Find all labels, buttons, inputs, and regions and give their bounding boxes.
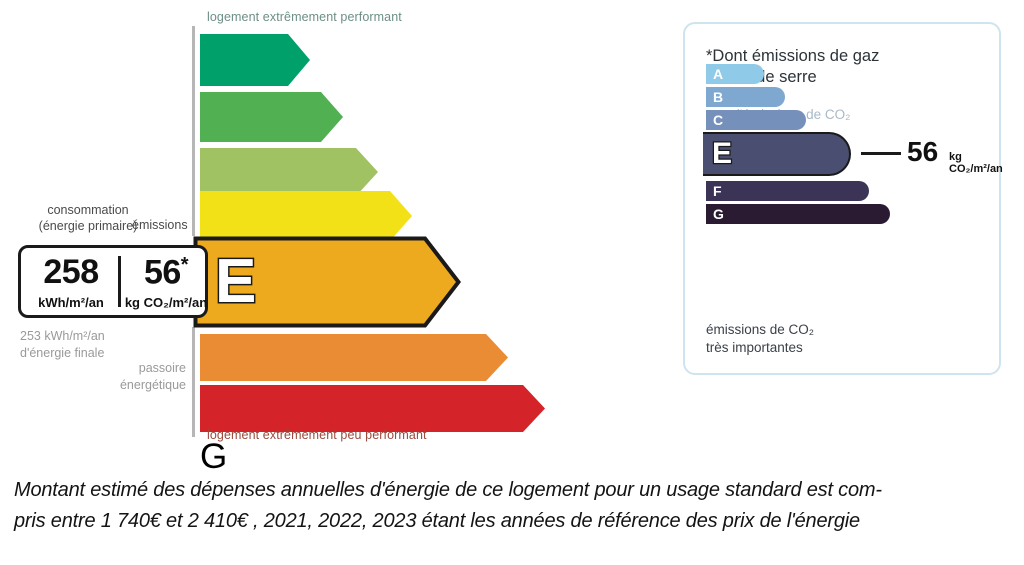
- co2-rating-bar-F: F: [706, 181, 869, 201]
- emissions-value: 56: [144, 253, 181, 291]
- energy-rating-bar-E-highlighted: E: [193, 236, 461, 328]
- energy-rating-letter-G: G: [200, 437, 545, 477]
- consumption-value: 258: [24, 254, 118, 291]
- co2-scale-caption-bottom: émissions de CO₂ très importantes: [706, 321, 814, 356]
- co2-rating-letter-C: C: [713, 113, 723, 127]
- scale-caption-bottom: logement extrêmement peu performant: [207, 428, 427, 442]
- co2-rating-letter-F: F: [713, 184, 722, 198]
- emissions-asterisk: *: [181, 254, 188, 276]
- scale-divider-line-bottom: [192, 327, 195, 437]
- consumption-cell: 258 kWh/m²/an: [24, 248, 118, 315]
- energy-arrow-D-shape: [200, 191, 412, 241]
- energy-rating-bar-B: B: [200, 92, 343, 142]
- energy-rating-bar-F: F: [200, 334, 508, 381]
- passoire-energetique-note: passoire énergétique: [108, 360, 186, 394]
- consumption-unit-text: kWh/m: [38, 295, 81, 310]
- energy-arrow-A-shape: [200, 34, 310, 86]
- energy-rating-bar-G: G: [200, 385, 545, 432]
- co2-rating-letter-A: A: [713, 67, 723, 81]
- emissions-cell: 56* kg CO₂/m²/an: [124, 248, 208, 315]
- scale-caption-top: logement extrêmement performant: [207, 10, 402, 24]
- final-energy-note: 253 kWh/m²/an d'énergie finale: [20, 328, 105, 362]
- emissions-label: émissions: [132, 218, 188, 232]
- emissions-unit: kg CO₂/m²/an: [124, 295, 208, 310]
- co2-rating-bar-C: C: [706, 110, 806, 130]
- energy-arrow-C-shape: [200, 148, 378, 196]
- co2-rating-letter-E: E: [712, 139, 732, 169]
- co2-rating-bar-E-highlighted: E: [703, 132, 851, 176]
- value-box-divider: [118, 256, 121, 307]
- caption-line1: Montant estimé des dépenses annuelles d'…: [14, 475, 1014, 506]
- co2-rating-bar-B: B: [706, 87, 785, 107]
- consumption-unit-suffix: /an: [85, 295, 104, 310]
- emissions-value-wrap: 56*: [124, 254, 208, 292]
- energy-rating-letter-E: E: [215, 251, 256, 313]
- energy-arrow-B-shape: [200, 92, 343, 142]
- scale-divider-line-top: [192, 26, 195, 236]
- energy-arrow-G-shape: [200, 385, 545, 432]
- passoire-line1: passoire: [108, 360, 186, 377]
- co2-caption-bottom-line1: émissions de CO₂: [706, 321, 814, 339]
- energy-arrow-F-shape: [200, 334, 508, 381]
- energy-value-box: 258 kWh/m²/an 56* kg CO₂/m²/an: [18, 245, 208, 318]
- co2-rating-letter-B: B: [713, 90, 723, 104]
- co2-rating-letter-G: G: [713, 207, 724, 221]
- final-energy-line2: d'énergie finale: [20, 345, 105, 362]
- energy-rating-bar-A: A: [200, 34, 310, 86]
- co2-rating-bar-A: A: [706, 64, 764, 84]
- consumption-label-line1: consommation: [23, 202, 153, 218]
- energy-performance-scale: logement extrêmement performant ABCDFG E…: [0, 0, 670, 455]
- co2-caption-bottom-line2: très importantes: [706, 339, 814, 357]
- co2-value-unit: kg CO₂/m²/an: [949, 151, 1003, 175]
- caption-line2: pris entre 1 740€ et 2 410€ , 2021, 2022…: [14, 506, 1014, 537]
- co2-value: 56: [907, 138, 938, 166]
- final-energy-line1: 253 kWh/m²/an: [20, 328, 105, 345]
- co2-rating-bar-G: G: [706, 204, 890, 224]
- co2-leader-line: [861, 152, 901, 155]
- energy-rating-bar-D: D: [200, 191, 412, 241]
- estimated-cost-caption: Montant estimé des dépenses annuelles d'…: [14, 475, 1014, 537]
- consumption-unit: kWh/m²/an: [24, 295, 118, 310]
- passoire-line2: énergétique: [108, 377, 186, 394]
- energy-rating-bar-C: C: [200, 148, 378, 196]
- co2-emissions-panel: *Dont émissions de gaz à effet de serre …: [683, 22, 1001, 375]
